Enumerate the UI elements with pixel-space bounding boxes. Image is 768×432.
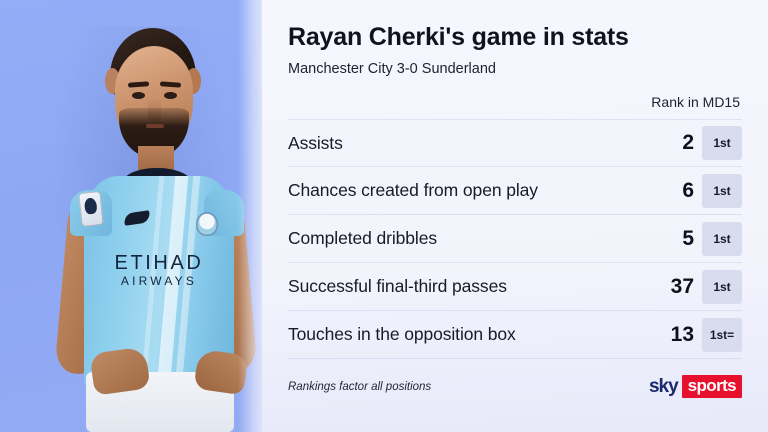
rank-column-header: Rank in MD15 — [288, 94, 742, 110]
club-crest-icon — [196, 212, 218, 236]
table-row: Assists 2 1st — [288, 119, 742, 167]
kit-sponsor-sub: AIRWAYS — [84, 274, 234, 288]
stat-value: 37 — [650, 275, 702, 299]
stats-card: Rayan Cherki's game in stats Manchester … — [262, 0, 768, 432]
stat-label: Touches in the opposition box — [288, 324, 650, 345]
match-result-subtitle: Manchester City 3-0 Sunderland — [288, 61, 742, 77]
kit-sponsor-main: ETIHAD — [84, 252, 234, 274]
player-left-eye — [132, 92, 145, 99]
player-photo-panel: ETIHAD AIRWAYS — [0, 0, 262, 432]
stat-label: Completed dribbles — [288, 228, 650, 249]
table-row: Successful final-third passes 37 1st — [288, 263, 742, 311]
stat-label: Successful final-third passes — [288, 276, 650, 297]
card-footer: Rankings factor all positions sky sports — [288, 375, 742, 398]
status-badge: 1st= — [702, 318, 742, 352]
player-mouth — [146, 124, 164, 128]
status-badge: 1st — [702, 174, 742, 208]
stat-label: Chances created from open play — [288, 180, 650, 201]
stat-value: 13 — [650, 323, 702, 347]
stat-value: 2 — [650, 131, 702, 155]
sky-sports-logo: sky sports — [649, 375, 742, 398]
table-row: Chances created from open play 6 1st — [288, 167, 742, 215]
footnote: Rankings factor all positions — [288, 381, 431, 393]
stat-value: 6 — [650, 179, 702, 203]
player-right-eye — [164, 92, 177, 99]
stat-value: 5 — [650, 227, 702, 251]
table-row: Touches in the opposition box 13 1st= — [288, 311, 742, 359]
table-row: Completed dribbles 5 1st — [288, 215, 742, 263]
stats-table: Assists 2 1st Chances created from open … — [288, 119, 742, 359]
premier-league-badge-icon — [78, 191, 103, 227]
sky-wordmark: sky — [649, 376, 682, 398]
status-badge: 1st — [702, 126, 742, 160]
stat-label: Assists — [288, 133, 650, 154]
status-badge: 1st — [702, 270, 742, 304]
player-left-hand — [89, 346, 150, 395]
sports-wordmark: sports — [682, 375, 742, 398]
kit-sponsor: ETIHAD AIRWAYS — [84, 252, 234, 288]
page-title: Rayan Cherki's game in stats — [288, 22, 742, 52]
status-badge: 1st — [702, 222, 742, 256]
